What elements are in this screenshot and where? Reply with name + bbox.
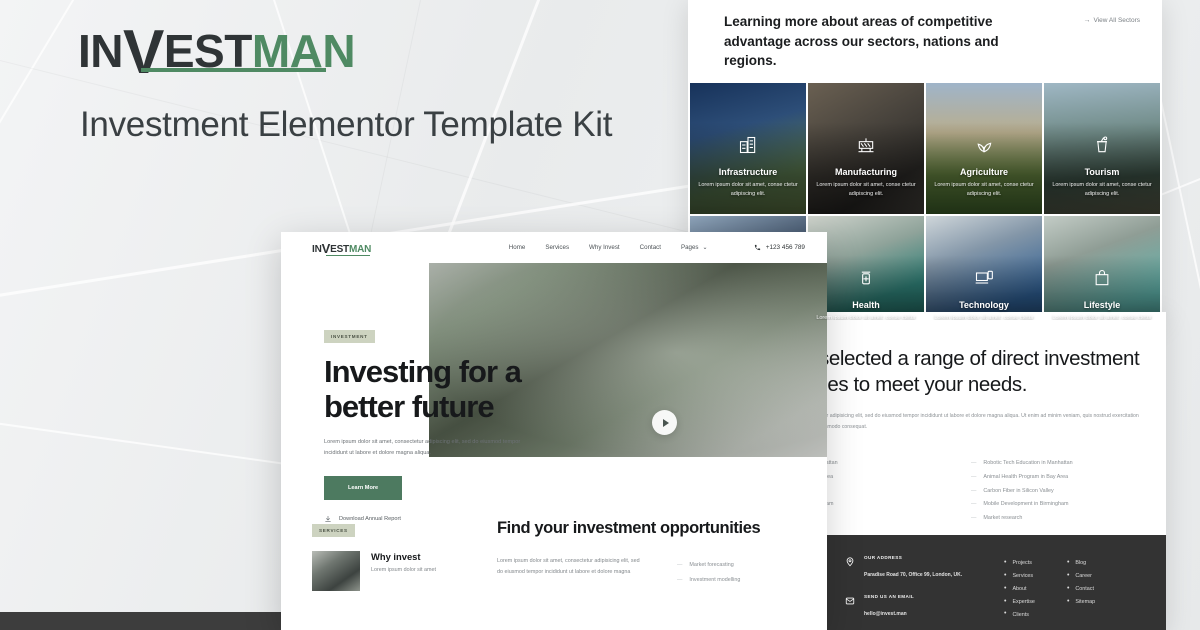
sector-card-manufacturing[interactable]: Manufacturing Lorem ipsum dolor sit amet… [808,83,924,214]
sector-name: Technology [959,300,1009,310]
sector-name: Manufacturing [835,167,897,177]
hero-title-line1: Investing for a [324,354,594,389]
bullet-icon: • [1004,574,1006,578]
footer-links-column-2: •Blog •Career •Contact •Sitemap [1067,557,1095,630]
footer-link[interactable]: •Contact [1067,583,1095,596]
download-label: Download Annual Report [339,516,401,522]
footer-link-label: Services [1012,573,1033,579]
direct-investment-heading: We have selected a range of direct inves… [826,346,1156,398]
footer-link-label: Contact [1075,586,1094,592]
footer-link[interactable]: •Sitemap [1067,595,1095,608]
laptop-icon [974,268,994,288]
nav-phone-label: +123 456 789 [766,244,805,251]
dash-icon: — [677,577,682,583]
learn-more-button[interactable]: Learn More [324,476,402,500]
nav-label: Home [509,244,526,251]
nav-phone[interactable]: +123 456 789 [754,244,805,251]
download-annual-report-link[interactable]: Download Annual Report [324,515,594,523]
footer-link-label: Clients [1012,612,1028,618]
sector-card-infrastructure[interactable]: Infrastructure Lorem ipsum dolor sit ame… [690,83,806,214]
opportunities-list: —Market forecasting —Investment modellin… [677,556,740,587]
building-icon [738,135,758,155]
chevron-down-icon: ⌄ [703,244,708,251]
list-item[interactable]: —Mobile Development in Birmingham [826,498,931,512]
leaf-icon [974,135,994,155]
list-item-label: Mobile Development in Birmingham [983,502,1068,507]
logo-text-in: IN [312,244,322,255]
nav-item-home[interactable]: Home [509,244,526,251]
list-item-label: Robotic Tech Education in Manhattan [983,461,1072,466]
sector-name: Infrastructure [719,167,778,177]
sector-desc: Lorem ipsum dolor sit amet, conse ctetur… [816,314,916,320]
sectors-header: Learning more about areas of competitive… [688,0,1162,83]
arrow-right-icon: → [1084,17,1091,24]
sector-desc: Lorem ipsum dolor sit amet, conse ctetur… [816,181,916,200]
footer-links: •Projects •Services •About •Expertise •C… [1004,555,1095,630]
logo-text-est: EST [330,244,349,255]
bullet-icon: • [1004,612,1006,616]
nav-menu: Home Services Why Invest Contact Pages⌄ … [509,244,805,251]
list-item[interactable]: —Mobile Development in Birmingham [971,498,1166,512]
bullet-icon: • [1004,587,1006,591]
logo-text-v: V [322,241,330,256]
footer-link[interactable]: •Career [1067,570,1095,583]
services-block: SERVICES Why invest Lorem ipsum dolor si… [312,519,467,591]
footer-email: SEND US AN EMAIL hello@invest.man [844,594,1004,620]
sector-desc: Lorem ipsum dolor sit amet, conse ctetur… [1052,181,1152,200]
footer-link[interactable]: •About [1004,583,1035,596]
footer-link-label: Expertise [1012,599,1034,605]
footer-links-column-1: •Projects •Services •About •Expertise •C… [1004,557,1035,630]
sector-name: Agriculture [960,167,1008,177]
footer-link-label: Blog [1075,560,1086,566]
factory-icon [856,135,876,155]
sector-name: Lifestyle [1084,300,1121,310]
list-item[interactable]: —Investment modelling [677,572,740,587]
dash-icon: — [971,475,976,480]
envelope-icon [844,595,856,607]
opportunity-list-left: —Robotic Tech Education in Manhattan —An… [826,457,931,526]
opportunities-paragraph: Lorem ipsum dolor sit amet, consectetur … [497,556,647,587]
list-item-label: Market research [983,516,1022,521]
list-item-label: Market forecasting [689,562,733,568]
page-title: Investment Elementor Template Kit [80,105,612,145]
footer-email-value[interactable]: hello@invest.man [864,611,907,617]
bullet-icon: • [1004,600,1006,604]
view-all-sectors-label: View All Sectors [1094,17,1140,24]
list-item[interactable]: —Market forecasting [677,557,740,572]
sector-card-technology[interactable]: Technology Lorem ipsum dolor sit amet, c… [926,216,1042,320]
list-item-label: Animal Health Program in Bay Area [983,475,1068,480]
service-desc: Lorem ipsum dolor sit amet [371,567,436,573]
list-item[interactable]: —Market research [971,512,1166,526]
footer-link-label: About [1012,586,1026,592]
sector-card-agriculture[interactable]: Agriculture Lorem ipsum dolor sit amet, … [926,83,1042,214]
footer-address: OUR ADDRESS Paradise Road 70, Office 99,… [844,555,1004,581]
map-pin-icon [844,556,856,568]
list-item[interactable]: —Animal Health Program in Bay Area [826,471,931,485]
site-footer: OUR ADDRESS Paradise Road 70, Office 99,… [826,535,1166,630]
logo-underline [326,255,370,256]
nav-label: Why Invest [589,244,620,251]
hero-content: INVESTMENT Investing for a better future… [324,325,594,523]
logo-text-in: IN [78,25,123,77]
hero-section: INVESTMENT Investing for a better future… [281,263,827,493]
download-icon [324,515,332,523]
list-item-label: Animal Health Program in Bay Area [826,475,833,480]
sectors-heading: Learning more about areas of competitive… [724,12,1014,71]
dash-icon: — [971,461,976,466]
nav-label: Pages [681,244,699,251]
bag-icon [1092,268,1112,288]
sector-name: Health [852,300,880,310]
brand-logo: INVESTMAN [78,22,355,74]
footer-email-label: SEND US AN EMAIL [864,594,914,599]
footer-link-label: Career [1075,573,1091,579]
list-item[interactable]: —Robotic Tech Education in Manhattan [971,457,1166,471]
footer-link-label: Sitemap [1075,599,1095,605]
play-button[interactable] [652,410,677,435]
logo-underline [141,68,326,72]
opportunities-block: Find your investment opportunities Lorem… [497,519,796,591]
bullet-icon: • [1067,574,1069,578]
sector-desc: Lorem ipsum dolor sit amet, conse ctetur… [1052,314,1152,320]
drink-icon [1092,135,1112,155]
dash-icon: — [971,516,976,521]
play-icon [663,419,669,427]
list-item-label: Mobile Development in Birmingham [826,502,833,507]
list-item[interactable]: —Animal Health Program in Bay Area [971,471,1166,485]
nav-item-pages[interactable]: Pages⌄ [681,244,708,251]
footer-address-value: Paradise Road 70, Office 99, London, UK. [864,572,962,578]
decor-line [0,0,122,624]
nav-item-services[interactable]: Services [545,244,569,251]
service-item-why-invest[interactable]: Why invest Lorem ipsum dolor sit amet [312,551,467,591]
dash-icon: — [677,562,682,568]
sector-name: Tourism [1085,167,1120,177]
direct-investment-body: We have selected a range of direct inves… [826,312,1166,526]
footer-link[interactable]: •Blog [1067,557,1095,570]
footer-link[interactable]: •Expertise [1004,595,1035,608]
site-logo[interactable]: INVESTMAN [312,240,371,255]
footer-link[interactable]: •Services [1004,570,1035,583]
bullet-icon: • [1004,561,1006,565]
footer-link-label: Projects [1012,560,1031,566]
nav-label: Contact [640,244,661,251]
direct-investment-panel: We have selected a range of direct inves… [826,312,1166,630]
service-thumbnail [312,551,360,591]
footer-contact-block: OUR ADDRESS Paradise Road 70, Office 99,… [826,555,1004,630]
view-all-sectors-link[interactable]: → View All Sectors [1084,17,1140,24]
footer-link[interactable]: •Projects [1004,557,1035,570]
hero-paragraph: Lorem ipsum dolor sit amet, consectetur … [324,437,542,459]
nav-item-contact[interactable]: Contact [640,244,661,251]
dash-icon: — [971,502,976,507]
sector-card-lifestyle[interactable]: Lifestyle Lorem ipsum dolor sit amet, co… [1044,216,1160,320]
hero-title: Investing for a better future [324,354,594,424]
footer-link[interactable]: •Clients [1004,608,1035,621]
nav-item-why-invest[interactable]: Why Invest [589,244,620,251]
hero-title-line2: better future [324,389,594,424]
dash-icon: — [971,489,976,494]
list-item[interactable]: —Carbon Fiber in Silicon Valley [971,484,1166,498]
bullet-icon: • [1067,561,1069,565]
direct-investment-lists: —Robotic Tech Education in Manhattan —An… [826,457,1166,526]
list-item-label: Carbon Fiber in Silicon Valley [983,489,1053,494]
list-item[interactable]: —Market research [826,512,931,526]
nav-label: Services [545,244,569,251]
sector-card-tourism[interactable]: Tourism Lorem ipsum dolor sit amet, cons… [1044,83,1160,214]
list-item[interactable]: —Carbon Fiber in Silicon Valley [826,484,931,498]
footer-address-label: OUR ADDRESS [864,555,962,560]
hero-badge: INVESTMENT [324,330,375,343]
bullet-icon: • [1067,600,1069,604]
service-title: Why invest [371,551,436,562]
list-item-label: Investment modelling [689,577,740,583]
logo-text-man: MAN [349,244,371,255]
services-badge: SERVICES [312,524,355,537]
direct-investment-paragraph: Lorem ipsum dolor sit amet, consectetur … [826,411,1156,432]
sector-desc: Lorem ipsum dolor sit amet, conse ctetur… [698,181,798,200]
homepage-preview-panel: INVESTMAN Home Services Why Invest Conta… [281,232,827,630]
list-item[interactable]: —Robotic Tech Education in Manhattan [826,457,931,471]
opportunities-columns: Lorem ipsum dolor sit amet, consectetur … [497,556,796,587]
list-item-label: Robotic Tech Education in Manhattan [826,461,838,466]
bullet-icon: • [1067,587,1069,591]
sector-desc: Lorem ipsum dolor sit amet, conse ctetur… [934,314,1034,320]
medicine-icon [856,268,876,288]
opportunity-list-right: —Robotic Tech Education in Manhattan —An… [971,457,1166,526]
phone-icon [754,244,761,251]
logo-text-v: V [123,18,164,87]
sector-desc: Lorem ipsum dolor sit amet, conse ctetur… [934,181,1034,200]
site-navbar: INVESTMAN Home Services Why Invest Conta… [281,232,827,263]
